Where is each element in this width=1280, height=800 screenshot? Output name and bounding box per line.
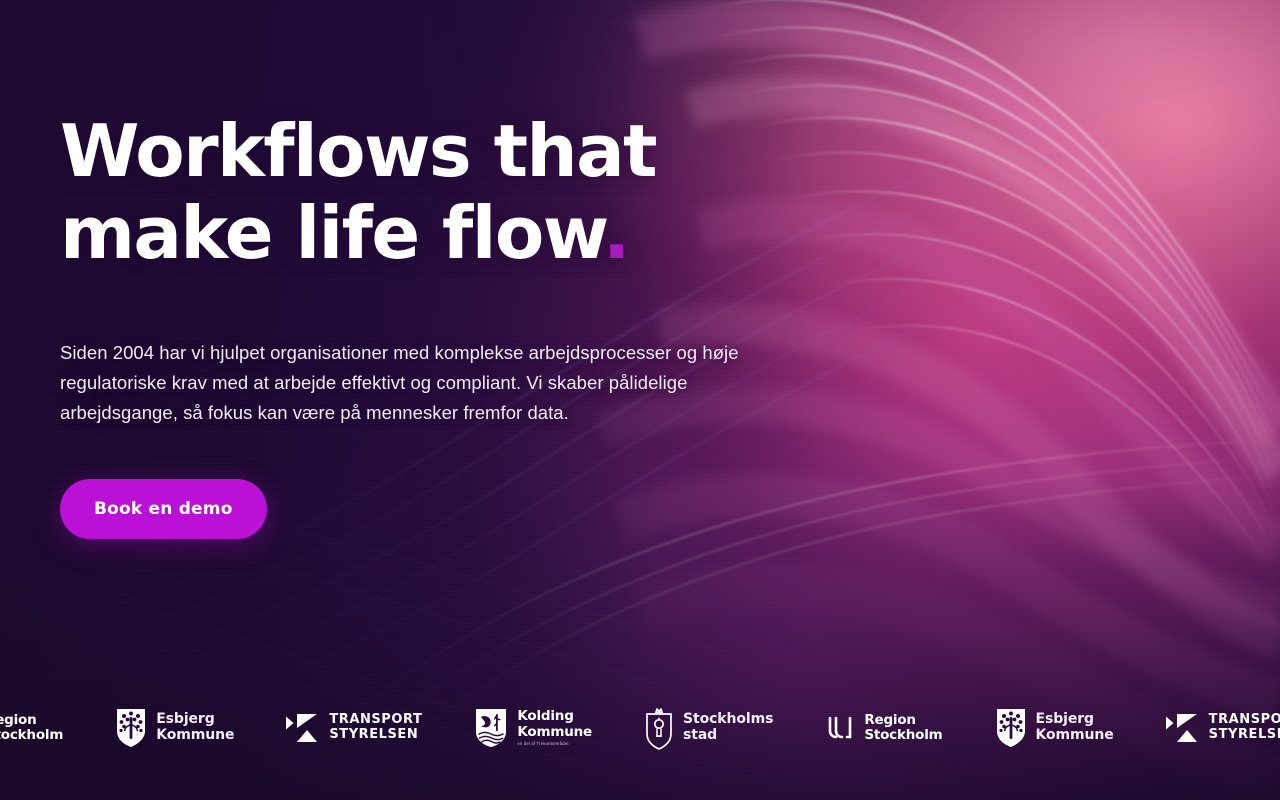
partner-logo-line-1: Kolding (517, 709, 592, 724)
partner-logo-line-1: Stockholms (683, 712, 773, 728)
hero-content: Workflows that make life flow. Siden 200… (60, 110, 880, 539)
kolding-shield-crest (474, 707, 508, 749)
partner-logo-line-2: STYRELSEN (1209, 728, 1280, 743)
partner-logo-line-1: Region (0, 713, 63, 728)
esbjerg-shield-crest (995, 707, 1027, 749)
partner-logo-tagline: en del af Trekantområdet (517, 742, 592, 747)
partner-logo-line-1: TRANSPORT (1209, 713, 1280, 728)
partner-logo-line-2: Kommune (517, 725, 592, 740)
partner-logo-wordmark: EsbjergKommune (1036, 712, 1114, 744)
partner-logo-kolding[interactable]: KoldingKommuneen del af Trekantområdet (448, 702, 618, 754)
partner-logo-wordmark: KoldingKommuneen del af Trekantområdet (517, 709, 592, 747)
region-stockholm-mark (825, 714, 855, 742)
headline-line-2-text: make life flow (60, 191, 603, 275)
partner-logo-wordmark: Stockholmsstad (683, 712, 773, 744)
partner-logo-wordmark: TRANSPORTSTYRELSEN (1209, 713, 1280, 743)
partner-logo-strip: RegionStockholm EsbjergKommune TRANSPORT… (0, 698, 1280, 758)
headline-line-2: make life flow. (60, 192, 880, 274)
transportstyrelsen-arrow-mark (286, 713, 320, 743)
headline-accent-dot: . (603, 191, 629, 275)
transportstyrelsen-arrow-mark (1166, 713, 1200, 743)
partner-logo-esbjerg[interactable]: EsbjergKommune (969, 702, 1140, 754)
page-title: Workflows that make life flow. (60, 110, 880, 274)
partner-logo-line-2: stad (683, 728, 773, 744)
body-line-3: arbejdsgange, så fokus kan være på menne… (60, 398, 800, 428)
esbjerg-shield-crest (115, 707, 147, 749)
partner-logo-line-1: TRANSPORT (329, 713, 422, 728)
partner-logo-line-2: STYRELSEN (329, 728, 422, 743)
partner-logo-line-1: Esbjerg (1036, 712, 1114, 728)
partner-logo-line-2: Stockholm (864, 728, 942, 743)
body-line-1: Siden 2004 har vi hjulpet organisationer… (60, 338, 800, 368)
stockholms-stad-crowned-shield (644, 706, 674, 750)
headline-line-1: Workflows that (60, 110, 880, 192)
body-line-2: regulatoriske krav med at arbejde effekt… (60, 368, 800, 398)
partner-logo-region[interactable]: RegionStockholm (0, 702, 89, 754)
partner-logo-line-2: Kommune (156, 728, 234, 744)
partner-logo-region[interactable]: RegionStockholm (799, 702, 968, 754)
partner-logo-esbjerg[interactable]: EsbjergKommune (89, 702, 260, 754)
partner-logo-stockholms[interactable]: Stockholmsstad (618, 702, 799, 754)
partner-logo-wordmark: TRANSPORTSTYRELSEN (329, 713, 422, 743)
partner-logo-line-1: Esbjerg (156, 712, 234, 728)
partner-logo-wordmark: RegionStockholm (864, 713, 942, 744)
hero-body-text: Siden 2004 har vi hjulpet organisationer… (60, 338, 800, 428)
partner-logo-line-1: Region (864, 713, 942, 728)
partner-logo-track: RegionStockholm EsbjergKommune TRANSPORT… (0, 702, 1280, 754)
partner-logo-transport[interactable]: TRANSPORTSTYRELSEN (260, 702, 448, 754)
partner-logo-transport[interactable]: TRANSPORTSTYRELSEN (1140, 702, 1280, 754)
partner-logo-line-2: Kommune (1036, 728, 1114, 744)
partner-logo-line-2: Stockholm (0, 728, 63, 743)
partner-logo-wordmark: RegionStockholm (0, 713, 63, 744)
book-demo-button[interactable]: Book en demo (60, 479, 267, 539)
partner-logo-wordmark: EsbjergKommune (156, 712, 234, 744)
